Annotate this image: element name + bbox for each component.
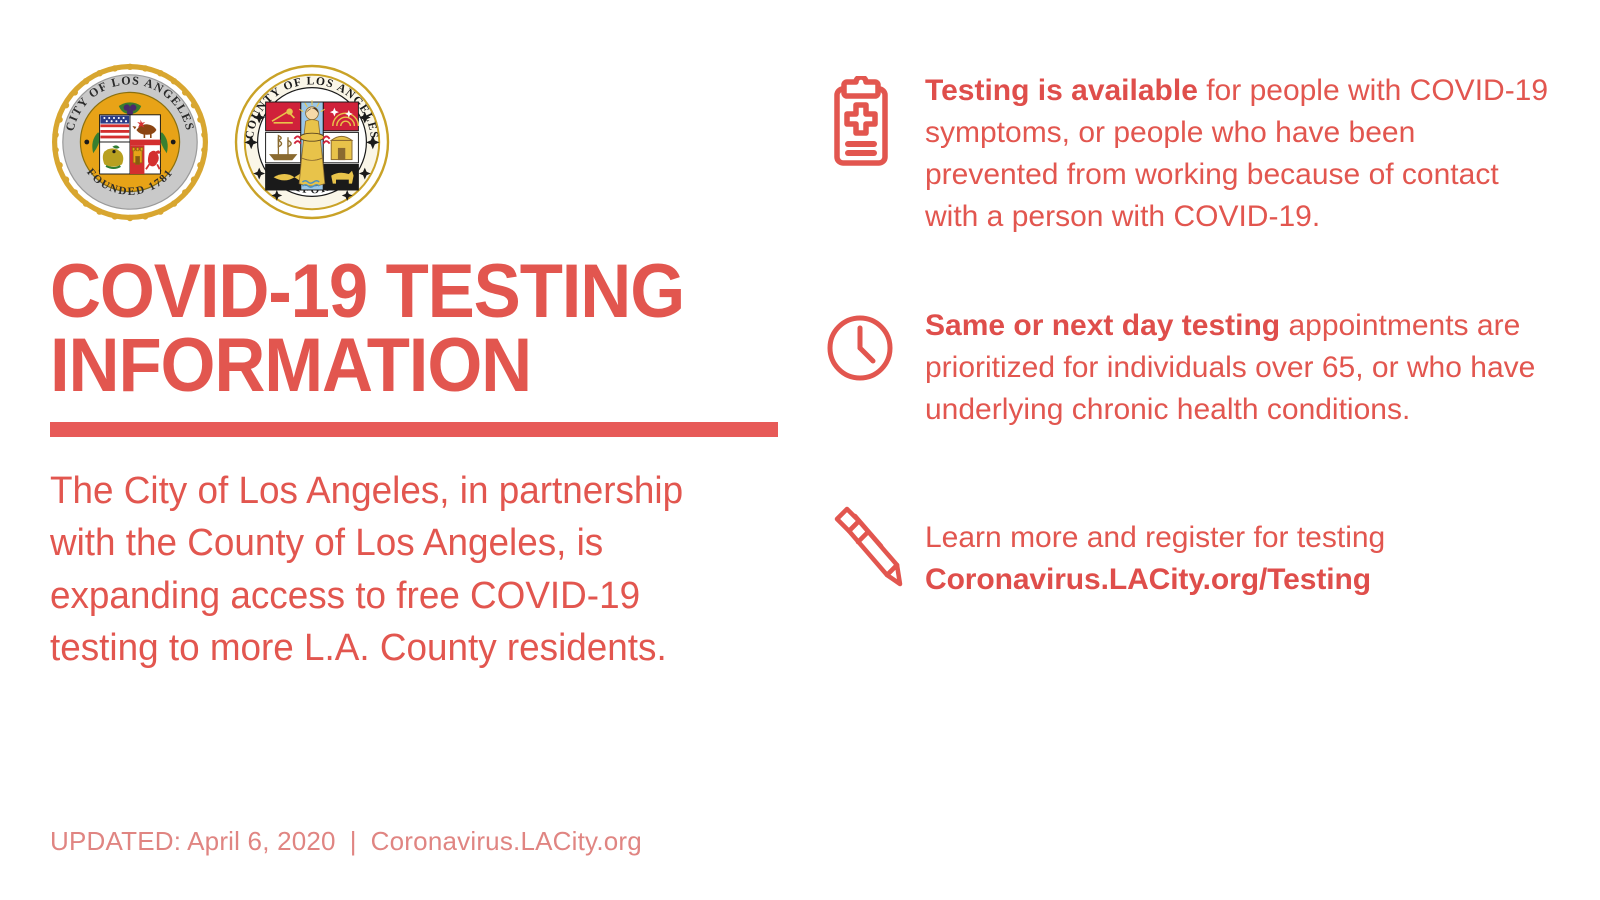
clock-icon xyxy=(825,305,925,388)
left-column: CITY OF LOS ANGELES FOUNDED 1781 xyxy=(50,62,810,713)
lead-paragraph: The City of Los Angeles, in partnership … xyxy=(50,465,729,675)
clipboard-medical-icon xyxy=(825,70,925,173)
info-block-clock-heading: Same or next day testing xyxy=(925,309,1280,342)
footer-website: Coronavirus.LACity.org xyxy=(371,826,642,856)
poster-canvas: CITY OF LOS ANGELES FOUNDED 1781 xyxy=(0,0,1600,900)
right-column: Testing is available for people with COV… xyxy=(825,70,1555,601)
info-block-testing-heading: Testing is available xyxy=(925,74,1198,107)
footer: UPDATED: April 6, 2020|Coronavirus.LACit… xyxy=(50,826,642,857)
county-of-los-angeles-seal-icon: COUNTY OF LOS ANGELES CALIFORNIA xyxy=(232,62,392,222)
info-block-learn-more-heading: Learn more and register for testing xyxy=(925,521,1385,554)
info-block-learn-more: Learn more and register for testing Coro… xyxy=(825,493,1555,601)
footer-separator: | xyxy=(336,826,371,856)
info-block-clock-text: Same or next day testing appointments ar… xyxy=(925,305,1555,431)
testing-url-link[interactable]: Coronavirus.LACity.org/Testing xyxy=(925,559,1555,601)
footer-updated-label: UPDATED: April 6, 2020 xyxy=(50,826,336,856)
info-block-testing-available: Testing is available for people with COV… xyxy=(825,70,1555,237)
info-block-testing-text: Testing is available for people with COV… xyxy=(925,70,1555,237)
info-block-same-next-day: Same or next day testing appointments ar… xyxy=(825,305,1555,431)
pencil-icon xyxy=(825,493,925,598)
title-divider-rule xyxy=(50,422,778,437)
title-block: COVID-19 TESTING INFORMATION xyxy=(50,255,810,437)
city-of-los-angeles-seal-icon: CITY OF LOS ANGELES FOUNDED 1781 xyxy=(50,62,210,222)
page-title: COVID-19 TESTING INFORMATION xyxy=(50,255,757,404)
seals-row: CITY OF LOS ANGELES FOUNDED 1781 xyxy=(50,62,810,227)
info-block-learn-more-text: Learn more and register for testing Coro… xyxy=(925,493,1555,601)
